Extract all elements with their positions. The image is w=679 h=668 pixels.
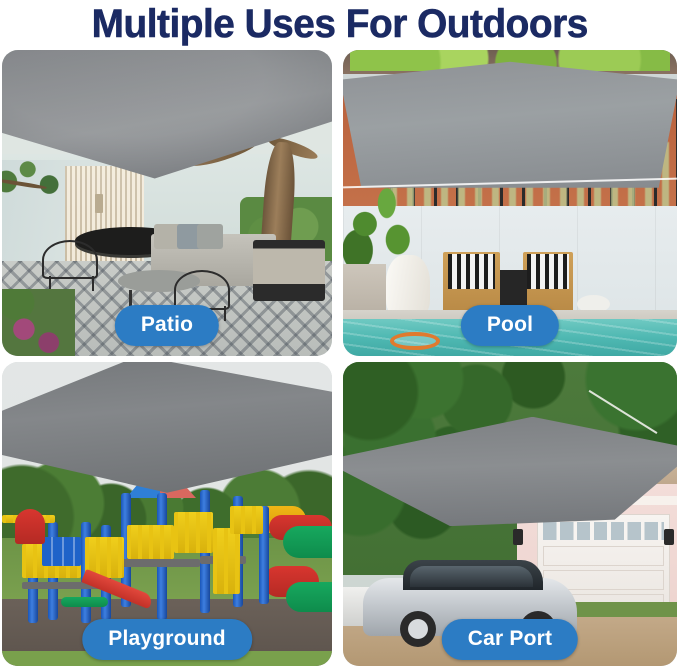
use-case-card-carport[interactable]: Car Port bbox=[343, 362, 677, 666]
playground-railing bbox=[127, 525, 173, 560]
use-case-grid: Patio bbox=[0, 48, 679, 668]
use-case-card-patio[interactable]: Patio bbox=[2, 50, 332, 356]
carport-car-wheel bbox=[400, 611, 436, 647]
carport-wall-lamp-icon bbox=[513, 529, 523, 545]
garage-door-panel bbox=[543, 546, 664, 566]
patio-wire-chair bbox=[42, 240, 98, 280]
garage-door-windows bbox=[543, 522, 664, 540]
patio-flower-bed bbox=[2, 289, 75, 356]
patio-armchair bbox=[253, 240, 326, 301]
use-case-label-pool: Pool bbox=[461, 305, 559, 346]
carport-wall-lamp-icon bbox=[664, 529, 674, 545]
shade-sail-pool bbox=[343, 59, 677, 188]
pool-life-ring bbox=[390, 332, 440, 350]
use-case-card-pool[interactable]: Pool bbox=[343, 50, 677, 356]
use-case-label-playground: Playground bbox=[82, 619, 252, 660]
page-title-bar: Multiple Uses For Outdoors bbox=[0, 0, 679, 48]
pool-deck-chair bbox=[443, 252, 500, 313]
page-title: Multiple Uses For Outdoors bbox=[91, 4, 587, 44]
product-infographic: Multiple Uses For Outdoors bbox=[0, 0, 679, 668]
patio-olive-tree bbox=[2, 151, 75, 212]
use-case-label-carport: Car Port bbox=[442, 619, 578, 660]
use-case-label-patio: Patio bbox=[115, 305, 219, 346]
carport-car-windows bbox=[410, 566, 534, 587]
playground-tube-slide bbox=[283, 526, 333, 558]
playground-slide bbox=[15, 509, 45, 544]
pool-deck-chair bbox=[523, 252, 573, 313]
playground-ladder bbox=[213, 528, 239, 594]
patio-cushion bbox=[197, 224, 223, 248]
playground-structure bbox=[2, 484, 332, 642]
playground-railing bbox=[174, 512, 214, 553]
playground-deck bbox=[114, 559, 200, 567]
playground-railing bbox=[230, 506, 263, 534]
playground-climb-panel bbox=[42, 537, 82, 565]
use-case-card-playground[interactable]: Playground bbox=[2, 362, 332, 666]
playground-tube-slide bbox=[286, 582, 332, 612]
pool-planter-box bbox=[343, 264, 386, 316]
playground-slide bbox=[61, 597, 107, 606]
